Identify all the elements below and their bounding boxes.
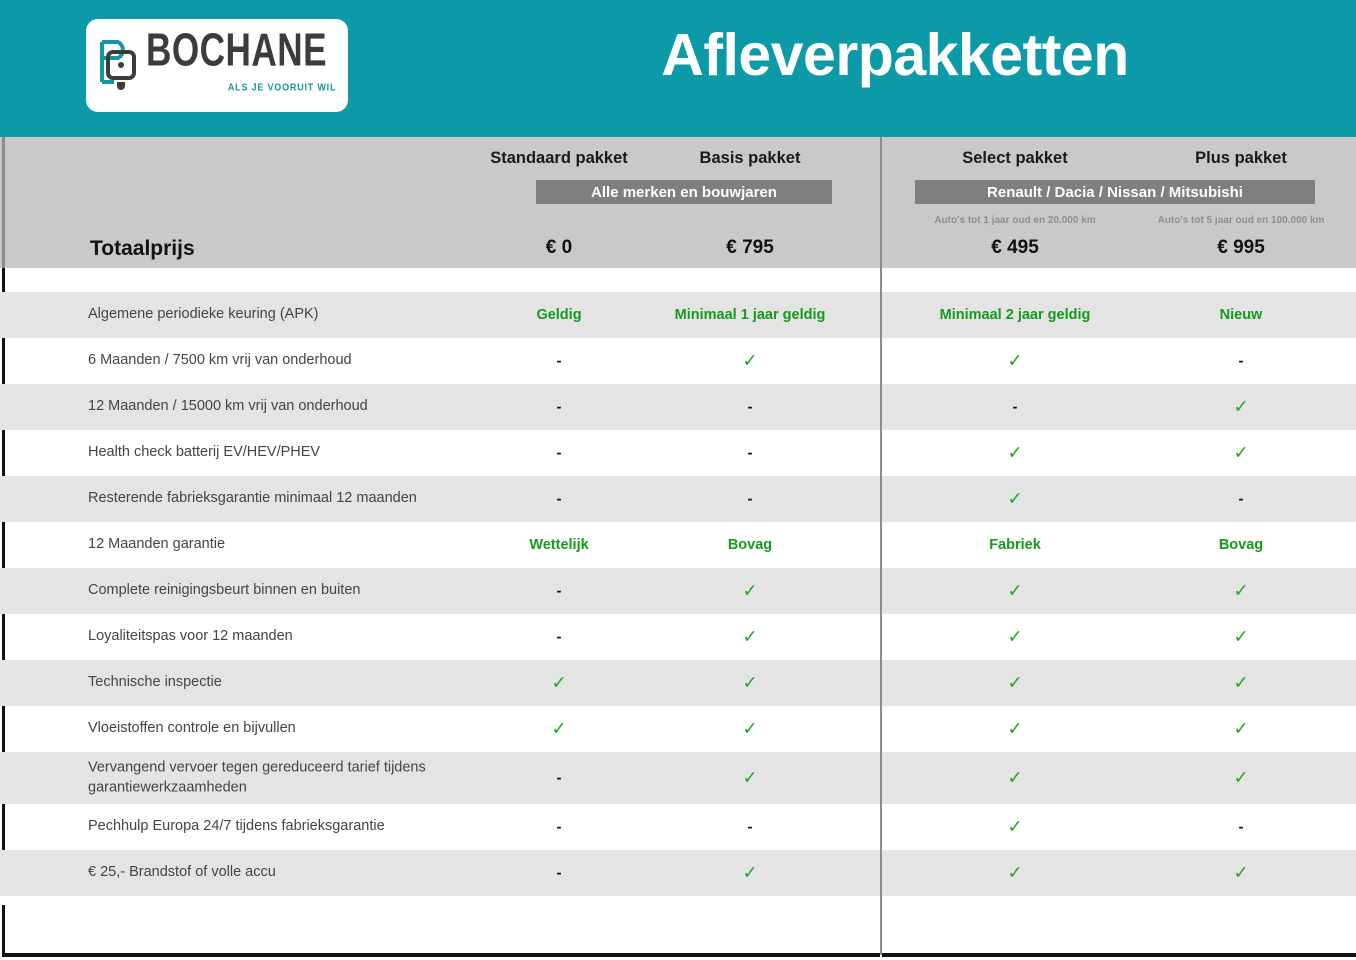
cell-standaard: ✓ (466, 719, 652, 740)
cell-standaard: - (466, 491, 652, 508)
cell-basis: ✓ (652, 351, 848, 372)
brand-bar-renault-group: Renault / Dacia / Nissan / Mitsubishi (915, 180, 1315, 204)
cell-select: Minimaal 2 jaar geldig (908, 307, 1122, 323)
cell-standaard: Wettelijk (466, 537, 652, 553)
row-left-rail (2, 706, 5, 752)
cell-select: ✓ (908, 351, 1122, 372)
brand-bar-all-makes: Alle merken en bouwjaren (536, 180, 832, 204)
cell-plus: Bovag (1134, 537, 1348, 553)
logo-tagline: ALS JE VOORUIT WIL (228, 81, 336, 93)
cell-basis: - (652, 819, 848, 836)
cell-basis: Minimaal 1 jaar geldig (652, 307, 848, 323)
cell-standaard: - (466, 770, 652, 787)
cell-basis: ✓ (652, 863, 848, 884)
price-basis: € 795 (652, 237, 848, 259)
table-spacer-row (0, 268, 1356, 292)
cell-basis: ✓ (652, 719, 848, 740)
cell-standaard: - (466, 865, 652, 882)
table-row: Technische inspectie✓✓✓✓ (0, 660, 1356, 706)
cell-select: ✓ (908, 863, 1122, 884)
header-left-rail (2, 137, 5, 268)
table-row: Pechhulp Europa 24/7 tijdens fabrieksgar… (0, 804, 1356, 850)
cell-standaard: - (466, 819, 652, 836)
cell-plus: ✓ (1134, 443, 1348, 464)
cell-plus: - (1134, 819, 1348, 836)
column-note-select: Auto's tot 1 jaar oud en 20.000 km (908, 215, 1122, 226)
column-header-basis: Basis pakket (652, 149, 848, 168)
price-plus: € 995 (1134, 237, 1348, 259)
cell-standaard: - (466, 353, 652, 370)
row-left-rail (2, 804, 5, 850)
column-header-select: Select pakket (908, 149, 1122, 168)
price-standaard: € 0 (466, 237, 652, 259)
cell-select: ✓ (908, 489, 1122, 510)
section-divider (880, 137, 882, 955)
table-row: Vloeistoffen controle en bijvullen✓✓✓✓ (0, 706, 1356, 752)
row-label: 12 Maanden / 15000 km vrij van onderhoud (88, 397, 368, 417)
table-row: Health check batterij EV/HEV/PHEV--✓✓ (0, 430, 1356, 476)
row-label: Algemene periodieke keuring (APK) (88, 305, 319, 325)
row-left-rail (2, 338, 5, 384)
cell-select: ✓ (908, 768, 1122, 789)
cell-standaard: - (466, 399, 652, 416)
cell-basis: ✓ (652, 581, 848, 602)
cell-select: ✓ (908, 817, 1122, 838)
bochane-logo: BOCHANE ALS JE VOORUIT WIL (86, 19, 348, 112)
cell-plus: - (1134, 491, 1348, 508)
cell-basis: Bovag (652, 537, 848, 553)
row-label: Loyaliteitspas voor 12 maanden (88, 627, 293, 647)
row-label: Health check batterij EV/HEV/PHEV (88, 443, 320, 463)
cell-select: ✓ (908, 581, 1122, 602)
column-header-plus: Plus pakket (1134, 149, 1348, 168)
row-label: 12 Maanden garantie (88, 535, 225, 555)
cell-select: ✓ (908, 719, 1122, 740)
row-label: Vervangend vervoer tegen gereduceerd tar… (88, 758, 448, 797)
cell-plus: Nieuw (1134, 307, 1348, 323)
table-row: 12 Maanden / 15000 km vrij van onderhoud… (0, 384, 1356, 430)
table-row: Loyaliteitspas voor 12 maanden-✓✓✓ (0, 614, 1356, 660)
table-row: Algemene periodieke keuring (APK)GeldigM… (0, 292, 1356, 338)
table-row: € 25,- Brandstof of volle accu-✓✓✓ (0, 850, 1356, 896)
bottom-rule-right (882, 953, 1356, 957)
cell-select: - (908, 399, 1122, 416)
cell-standaard: - (466, 583, 652, 600)
cell-plus: ✓ (1134, 673, 1348, 694)
cell-plus: ✓ (1134, 627, 1348, 648)
bottom-rule-left (2, 953, 880, 957)
page-banner: BOCHANE ALS JE VOORUIT WIL Afleverpakket… (0, 0, 1356, 137)
logo-wordmark: BOCHANE (146, 26, 327, 72)
row-label: Pechhulp Europa 24/7 tijdens fabrieksgar… (88, 817, 385, 837)
cell-basis: ✓ (652, 673, 848, 694)
row-left-rail (2, 430, 5, 476)
column-note-plus: Auto's tot 5 jaar oud en 100.000 km (1134, 215, 1348, 226)
cell-standaard: ✓ (466, 673, 652, 694)
cell-plus: ✓ (1134, 719, 1348, 740)
row-left-rail (2, 268, 5, 292)
table-row: Resterende fabrieksgarantie minimaal 12 … (0, 476, 1356, 522)
table-row: 12 Maanden garantieWettelijkBovagFabriek… (0, 522, 1356, 568)
cell-select: Fabriek (908, 537, 1122, 553)
row-label: Technische inspectie (88, 673, 222, 693)
cell-standaard: Geldig (466, 307, 652, 323)
table-row: Complete reinigingsbeurt binnen en buite… (0, 568, 1356, 614)
left-rail-bottom (2, 905, 5, 955)
cell-standaard: - (466, 629, 652, 646)
cell-select: ✓ (908, 443, 1122, 464)
column-header-standaard: Standaard pakket (466, 149, 652, 168)
cell-basis: ✓ (652, 627, 848, 648)
row-label: € 25,- Brandstof of volle accu (88, 863, 276, 883)
cell-plus: ✓ (1134, 581, 1348, 602)
cell-plus: ✓ (1134, 397, 1348, 418)
cell-plus: ✓ (1134, 863, 1348, 884)
row-left-rail (2, 614, 5, 660)
cell-basis: - (652, 399, 848, 416)
cell-plus: ✓ (1134, 768, 1348, 789)
cell-basis: - (652, 491, 848, 508)
row-label: 6 Maanden / 7500 km vrij van onderhoud (88, 351, 352, 371)
comparison-table: Algemene periodieke keuring (APK)GeldigM… (0, 268, 1356, 896)
table-row: Vervangend vervoer tegen gereduceerd tar… (0, 752, 1356, 804)
cell-basis: - (652, 445, 848, 462)
page-title: Afleverpakketten (500, 22, 1290, 90)
cell-standaard: - (466, 445, 652, 462)
totaalprijs-label: Totaalprijs (90, 237, 195, 261)
row-label: Resterende fabrieksgarantie minimaal 12 … (88, 489, 417, 509)
cell-select: ✓ (908, 673, 1122, 694)
table-row: 6 Maanden / 7500 km vrij van onderhoud-✓… (0, 338, 1356, 384)
cell-plus: - (1134, 353, 1348, 370)
bochane-mark-icon (98, 38, 138, 90)
row-label: Complete reinigingsbeurt binnen en buite… (88, 581, 360, 601)
cell-select: ✓ (908, 627, 1122, 648)
row-left-rail (2, 522, 5, 568)
price-select: € 495 (908, 237, 1122, 259)
row-label: Vloeistoffen controle en bijvullen (88, 719, 296, 739)
cell-basis: ✓ (652, 768, 848, 789)
